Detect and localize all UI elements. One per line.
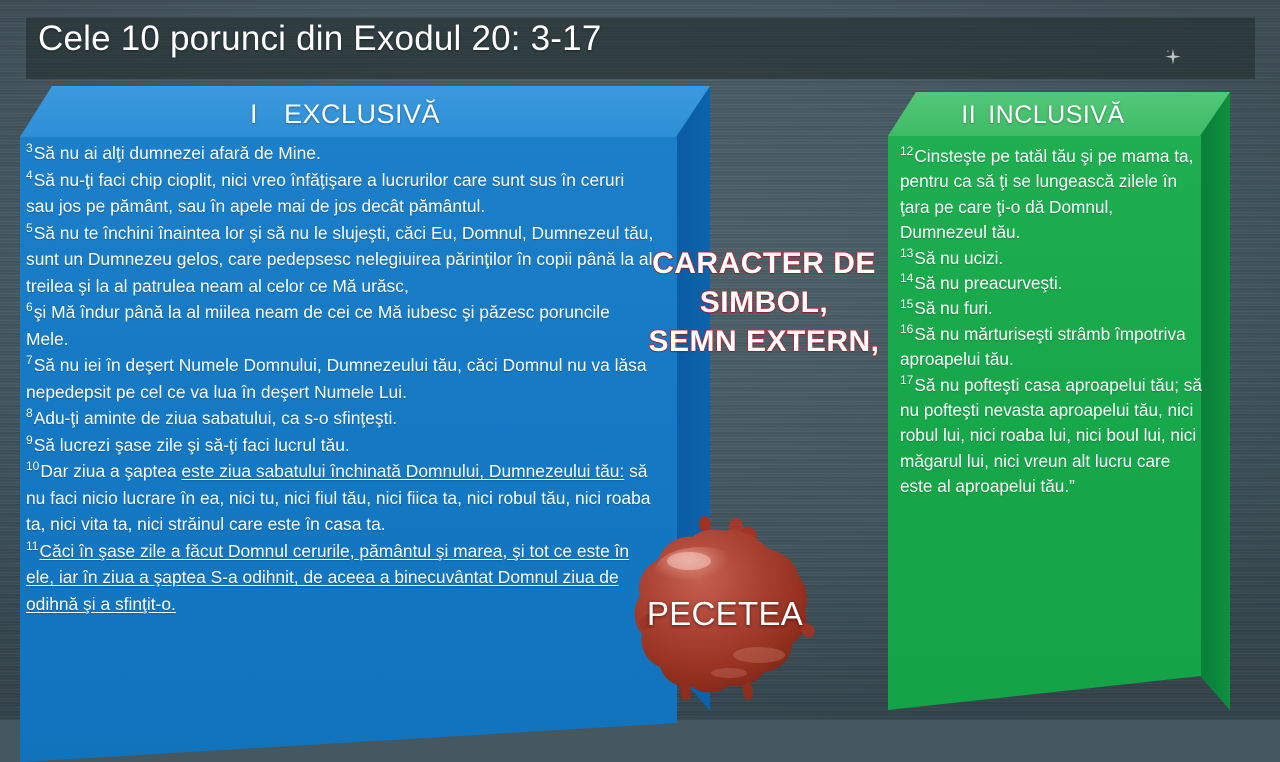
verse-text: Adu-ţi aminte de ziua sabatului, ca s-o …: [34, 408, 397, 428]
verse-text: Să nu pofteşti casa aproapelui tău; să n…: [900, 375, 1202, 497]
verse-item: 17Să nu pofteşti casa aproapelui tău; să…: [900, 373, 1202, 500]
verse-item: 12Cinsteşte pe tatăl tău şi pe mama ta, …: [900, 144, 1202, 246]
panel-inclusiva-heading: II INCLUSIVĂ: [888, 96, 1198, 134]
panel-exclusiva-verses: 3Să nu ai alţi dumnezei afară de Mine. 4…: [26, 140, 656, 660]
verse-number: 14: [900, 271, 913, 285]
verse-item: 10Dar ziua a şaptea este ziua sabatului …: [26, 458, 656, 538]
verse-item: 3Să nu ai alţi dumnezei afară de Mine.: [26, 140, 656, 167]
verse-item: 4Să nu-ţi faci chip cioplit, nici vreo î…: [26, 167, 656, 220]
verse-text: Să nu ucizi.: [914, 248, 1003, 268]
verse-text: Să nu mărturiseşti strâmb împotriva apro…: [900, 324, 1186, 369]
panel-inclusiva-verses: 12Cinsteşte pe tatăl tău şi pe mama ta, …: [900, 144, 1202, 564]
caption-line: SEMN EXTERN,: [640, 322, 888, 361]
verse-item: 8Adu-ţi aminte de ziua sabatului, ca s-o…: [26, 405, 656, 432]
verse-text: Să nu ai alţi dumnezei afară de Mine.: [34, 143, 321, 163]
verse-number: 9: [26, 433, 33, 447]
panel-inclusiva-numeral: II: [961, 101, 976, 130]
verse-number: 4: [26, 168, 33, 182]
verse-text-underlined: Căci în şase zile a făcut Domnul ceruril…: [26, 541, 629, 614]
wax-seal-icon: [619, 505, 831, 700]
verse-number: 6: [26, 300, 33, 314]
verse-text: Să nu te închini înaintea lor şi să nu l…: [26, 223, 653, 296]
verse-item: 16Să nu mărturiseşti strâmb împotriva ap…: [900, 322, 1202, 373]
caption-line: CARACTER DE: [640, 244, 888, 283]
verse-item: 6şi Mă îndur până la al miilea neam de c…: [26, 299, 656, 352]
verse-text: Cinsteşte pe tatăl tău şi pe mama ta, pe…: [900, 146, 1193, 242]
verse-text: Să nu iei în deşert Numele Domnului, Dum…: [26, 355, 647, 402]
center-caption: CARACTER DE SIMBOL, SEMN EXTERN,: [640, 244, 888, 361]
verse-text: Dar ziua a şaptea: [40, 461, 181, 481]
verse-number: 16: [900, 322, 913, 336]
verse-item: 5Să nu te închini înaintea lor şi să nu …: [26, 220, 656, 300]
verse-item: 14Să nu preacurveşti.: [900, 271, 1202, 296]
panel-exclusiva-numeral: I: [250, 99, 258, 130]
verse-number: 12: [900, 144, 913, 158]
verse-number: 15: [900, 297, 913, 311]
verse-text: Să nu furi.: [914, 298, 992, 318]
verse-number: 8: [26, 406, 33, 420]
verse-number: 17: [900, 373, 913, 387]
verse-item: 15Să nu furi.: [900, 296, 1202, 321]
panel-inclusiva-heading-label: INCLUSIVĂ: [988, 101, 1124, 130]
verse-text-underlined: este ziua sabatului închinată Domnului, …: [182, 461, 625, 481]
verse-number: 5: [26, 221, 33, 235]
page-title: Cele 10 porunci din Exodul 20: 3-17: [38, 19, 601, 59]
verse-item: 13Să nu ucizi.: [900, 246, 1202, 271]
sparkle-icon: [1164, 48, 1182, 66]
verse-text: Să nu preacurveşti.: [914, 273, 1062, 293]
panel-exclusiva-heading-label: EXCLUSIVĂ: [284, 99, 440, 130]
caption-line: SIMBOL,: [640, 283, 888, 322]
verse-number: 10: [26, 459, 39, 473]
verse-text: Să lucrezi şase zile şi să-ţi faci lucru…: [34, 435, 350, 455]
verse-number: 11: [26, 539, 38, 553]
verse-number: 13: [900, 246, 913, 260]
verse-item: 7Să nu iei în deşert Numele Domnului, Du…: [26, 352, 656, 405]
verse-number: 7: [26, 353, 33, 367]
verse-text: Să nu-ţi faci chip cioplit, nici vreo în…: [26, 170, 624, 217]
verse-text: şi Mă îndur până la al miilea neam de ce…: [26, 302, 610, 349]
panel-exclusiva-heading: I EXCLUSIVĂ: [20, 92, 670, 136]
verse-item: 11Căci în şase zile a făcut Domnul cerur…: [26, 538, 656, 618]
verse-item: 9Să lucrezi şase zile şi să-ţi faci lucr…: [26, 432, 656, 459]
verse-number: 3: [26, 141, 33, 155]
